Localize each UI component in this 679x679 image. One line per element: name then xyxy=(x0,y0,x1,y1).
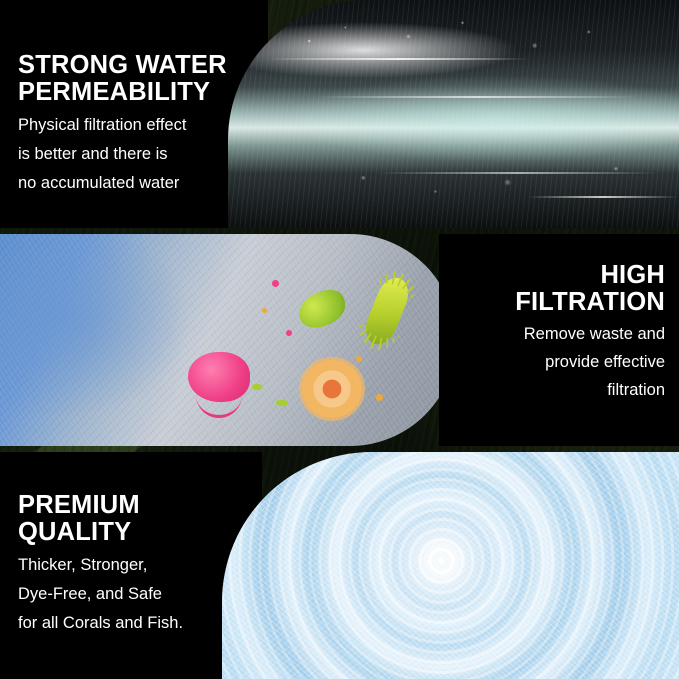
microbe-dot-icon xyxy=(252,384,262,390)
panel3-heading-line1: PREMIUM xyxy=(18,492,258,519)
water-streak-icon xyxy=(268,58,528,60)
panel3-photo-spiral-filter-wool xyxy=(222,452,679,679)
panel2-heading-line2: FILTRATION xyxy=(451,289,665,316)
panel3-body-line3: for all Corals and Fish. xyxy=(18,613,258,633)
microbe-dot-icon xyxy=(376,394,383,401)
microbe-pink-flagellate-icon xyxy=(188,352,250,402)
panel3-body-line2: Dye-Free, and Safe xyxy=(18,584,258,604)
microbe-dot-icon xyxy=(356,356,362,362)
panel2-body-line2: provide effective xyxy=(451,352,665,372)
water-streak-icon xyxy=(378,172,658,174)
panel1-heading-line2: PERMEABILITY xyxy=(18,79,256,106)
microbe-dot-icon xyxy=(276,400,288,406)
panel2-copy: HIGH FILTRATION Remove waste and provide… xyxy=(451,262,665,400)
microbe-green-amoeba-icon xyxy=(294,285,350,332)
panel1-body-line1: Physical filtration effect xyxy=(18,115,256,135)
microbe-dot-icon xyxy=(262,308,267,313)
panel1-heading-line1: STRONG WATER xyxy=(18,52,256,79)
water-streak-icon xyxy=(318,96,638,98)
panel2-body-line3: filtration xyxy=(451,380,665,400)
panel2-heading-line1: HIGH xyxy=(451,262,665,289)
panel1-copy: STRONG WATER PERMEABILITY Physical filtr… xyxy=(18,52,256,193)
panel3-copy: PREMIUM QUALITY Thicker, Stronger, Dye-F… xyxy=(18,492,258,633)
microbe-dot-icon xyxy=(272,280,279,287)
microbe-dot-icon xyxy=(286,330,292,336)
microbe-rod-bacterium-icon xyxy=(360,273,414,349)
panel2-photo-filter-fiber xyxy=(0,234,456,446)
panel1-body-line3: no accumulated water xyxy=(18,173,256,193)
feature-collage: STRONG WATER PERMEABILITY Physical filtr… xyxy=(0,0,679,679)
microbe-orange-cell-icon xyxy=(302,360,362,418)
panel3-heading-line2: QUALITY xyxy=(18,519,258,546)
panel3-body-line1: Thicker, Stronger, xyxy=(18,555,258,575)
panel1-photo-water-jet xyxy=(228,0,679,228)
panel2-body-line1: Remove waste and xyxy=(451,324,665,344)
water-streak-icon xyxy=(528,196,678,198)
panel1-body-line2: is better and there is xyxy=(18,144,256,164)
